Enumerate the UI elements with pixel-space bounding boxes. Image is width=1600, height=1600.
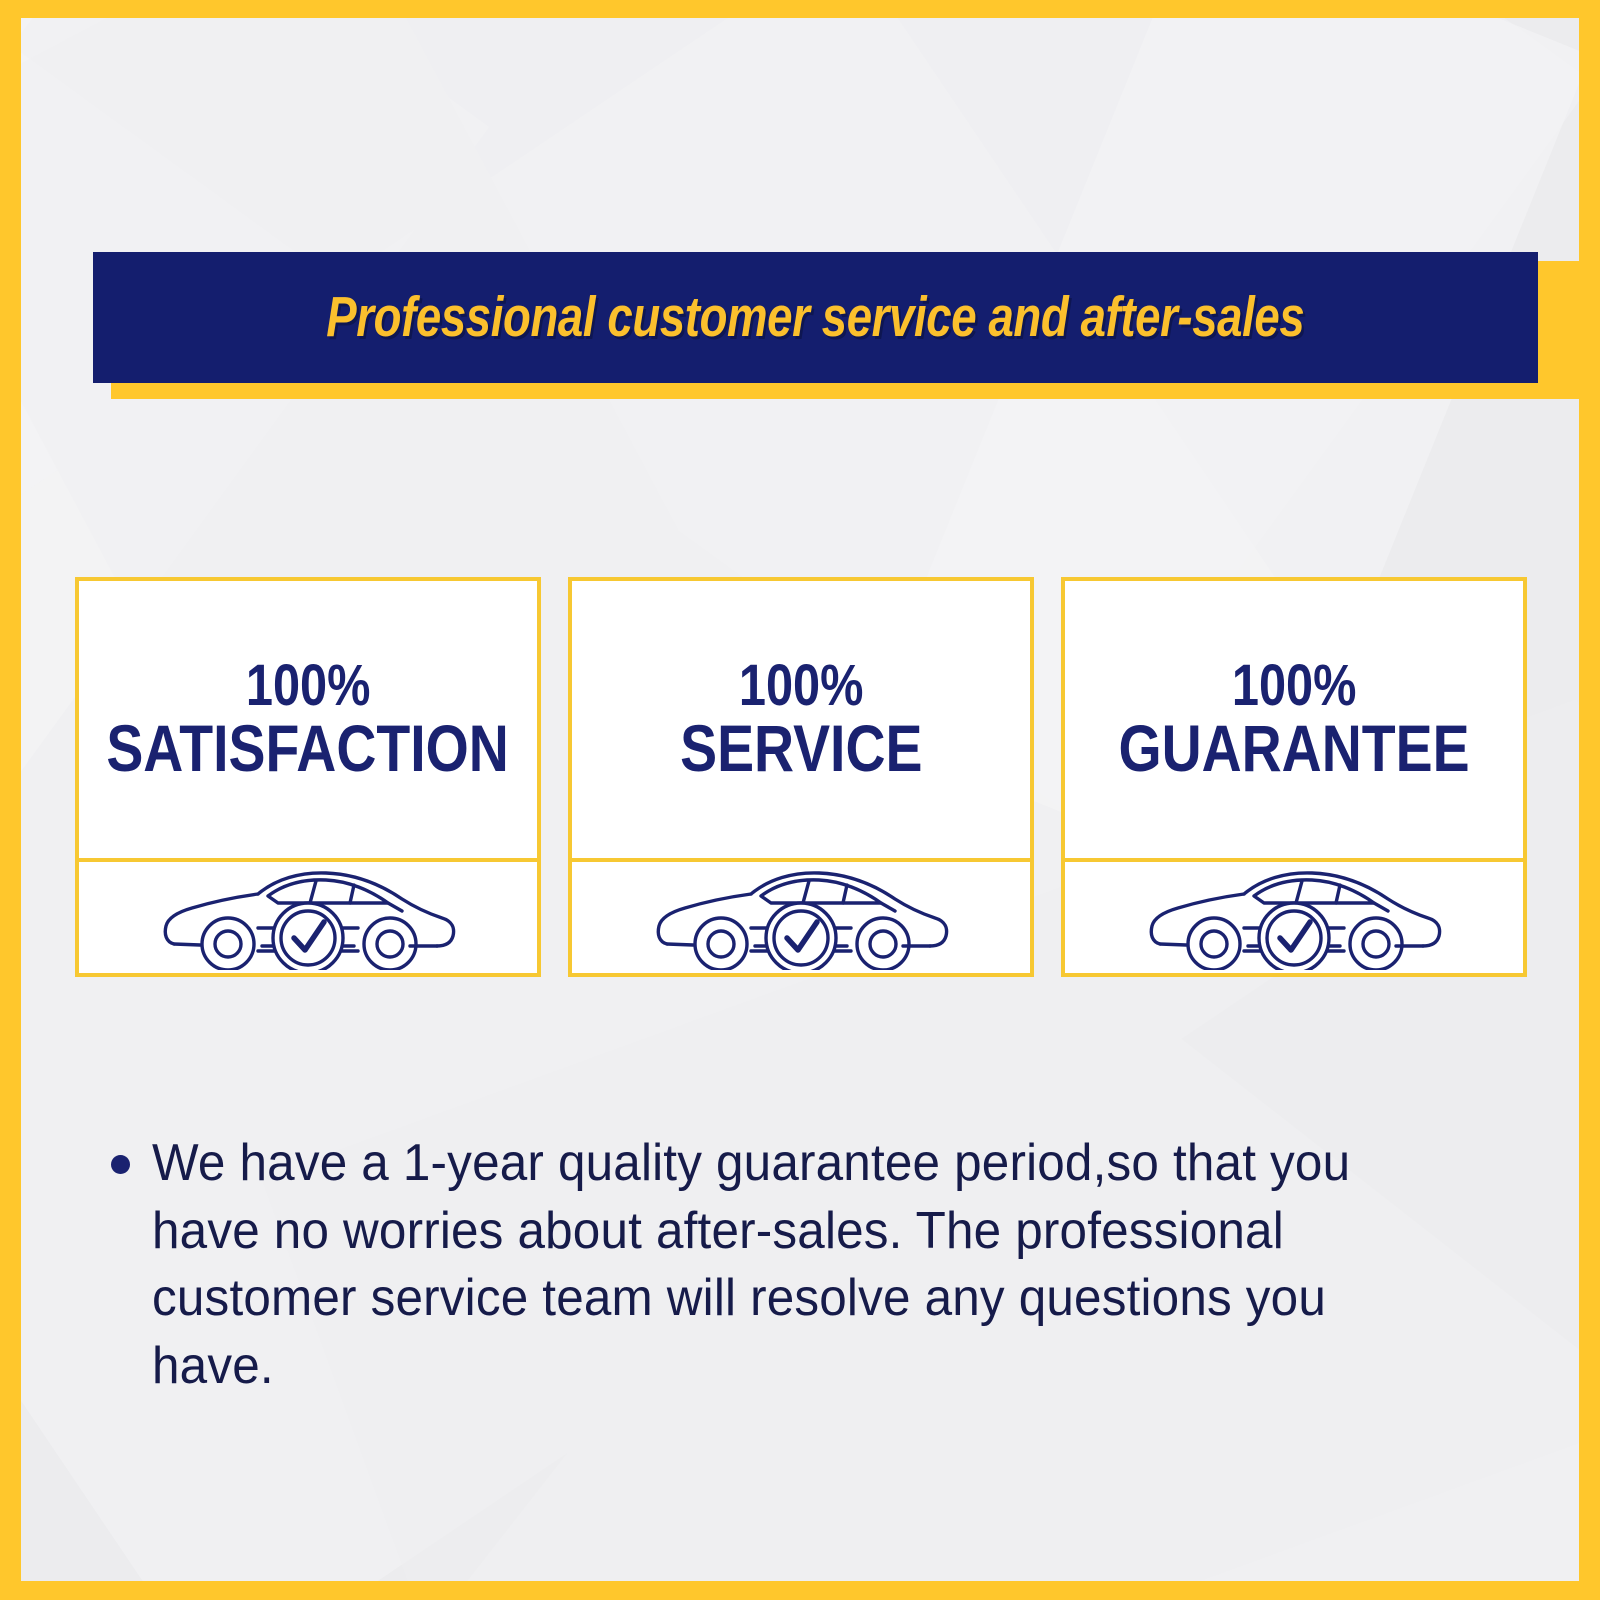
guarantee-description: We have a 1-year quality guarantee perio… — [152, 1130, 1430, 1400]
feature-card-guarantee[interactable]: 100% GUARANTEE — [1061, 577, 1527, 977]
card-icon-area — [572, 862, 1030, 973]
car-check-icon — [158, 866, 458, 970]
card-text-area: 100% GUARANTEE — [1065, 581, 1523, 862]
title-banner: Professional customer service and after-… — [72, 235, 1579, 395]
card-icon-area — [1065, 862, 1523, 973]
feature-card-service[interactable]: 100% SERVICE — [568, 577, 1034, 977]
page-title: Professional customer service and after-… — [326, 289, 1304, 346]
feature-card-satisfaction[interactable]: 100% SATISFACTION — [75, 577, 541, 977]
banner-plate: Professional customer service and after-… — [93, 252, 1538, 383]
card-label: SERVICE — [680, 715, 922, 781]
guarantee-bullet-item: We have a 1-year quality guarantee perio… — [111, 1130, 1531, 1400]
card-percent: 100% — [246, 658, 371, 714]
bullet-dot-icon — [111, 1155, 130, 1174]
poster-canvas: Professional customer service and after-… — [0, 0, 1600, 1600]
card-text-area: 100% SERVICE — [572, 581, 1030, 862]
car-check-icon — [651, 866, 951, 970]
inner-panel: Professional customer service and after-… — [21, 18, 1579, 1581]
feature-cards-row: 100% SATISFACTION — [75, 577, 1527, 977]
card-text-area: 100% SATISFACTION — [79, 581, 537, 862]
card-percent: 100% — [739, 658, 864, 714]
card-percent: 100% — [1232, 658, 1357, 714]
car-check-icon — [1144, 866, 1444, 970]
card-icon-area — [79, 862, 537, 973]
card-label: GUARANTEE — [1118, 715, 1469, 781]
card-label: SATISFACTION — [107, 715, 509, 781]
